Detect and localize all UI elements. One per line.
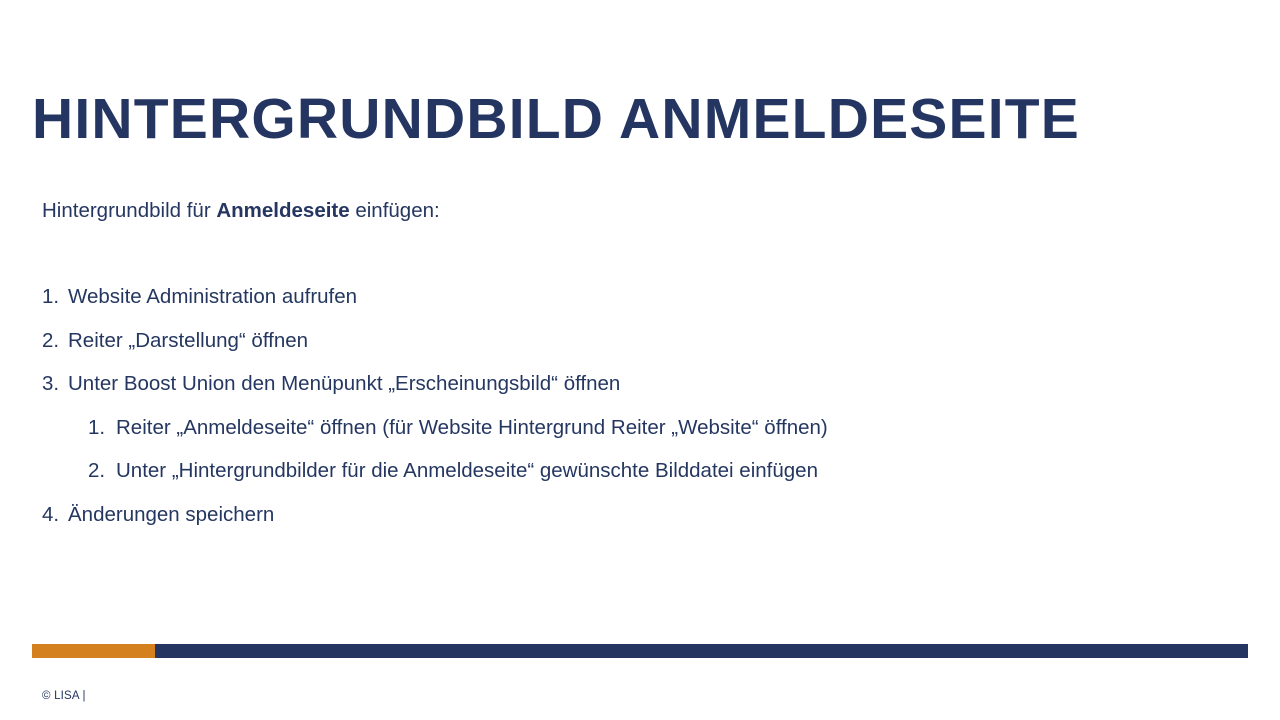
step-number: 1. <box>42 282 68 312</box>
intro-text-after: einfügen: <box>350 199 440 222</box>
intro-paragraph: Hintergrundbild für Anmeldeseite einfüge… <box>42 196 1222 226</box>
presentation-slide: Hintergrundbild Anmeldeseite Hintergrund… <box>0 0 1280 720</box>
footer-accent-bar-navy-segment <box>155 644 1248 658</box>
list-item: 1. Reiter „Anmeldeseite“ öffnen (für Web… <box>88 413 1222 443</box>
step-label: Unter Boost Union den Menüpunkt „Erschei… <box>68 369 620 399</box>
step-label: Reiter „Darstellung“ öffnen <box>68 326 308 356</box>
list-item: 3. Unter Boost Union den Menüpunkt „Ersc… <box>42 369 1222 399</box>
substep-label: Reiter „Anmeldeseite“ öffnen (für Websit… <box>116 413 828 443</box>
intro-text-before: Hintergrundbild für <box>42 199 216 222</box>
step-number: 4. <box>42 500 68 530</box>
step-number: 3. <box>42 369 68 399</box>
list-item: 1. Website Administration aufrufen <box>42 282 1222 312</box>
step-label: Website Administration aufrufen <box>68 282 357 312</box>
list-item: 2. Reiter „Darstellung“ öffnen <box>42 326 1222 356</box>
footer-accent-bar-orange-segment <box>32 644 155 658</box>
substep-number: 1. <box>88 413 116 443</box>
page-title: Hintergrundbild Anmeldeseite <box>32 90 1222 150</box>
substep-label: Unter „Hintergrundbilder für die Anmelde… <box>116 456 818 486</box>
list-item: 2. Unter „Hintergrundbilder für die Anme… <box>88 456 1222 486</box>
intro-text-bold: Anmeldeseite <box>216 199 349 222</box>
substep-number: 2. <box>88 456 116 486</box>
step-label: Änderungen speichern <box>68 500 274 530</box>
footer-accent-bar <box>32 644 1248 658</box>
slide-body: Hintergrundbild für Anmeldeseite einfüge… <box>42 196 1222 543</box>
steps-list: 1. Website Administration aufrufen 2. Re… <box>42 282 1222 530</box>
footer-copyright: © LISA | <box>42 688 86 704</box>
step-number: 2. <box>42 326 68 356</box>
substeps-list: 1. Reiter „Anmeldeseite“ öffnen (für Web… <box>42 413 1222 487</box>
list-item: 4. Änderungen speichern <box>42 500 1222 530</box>
